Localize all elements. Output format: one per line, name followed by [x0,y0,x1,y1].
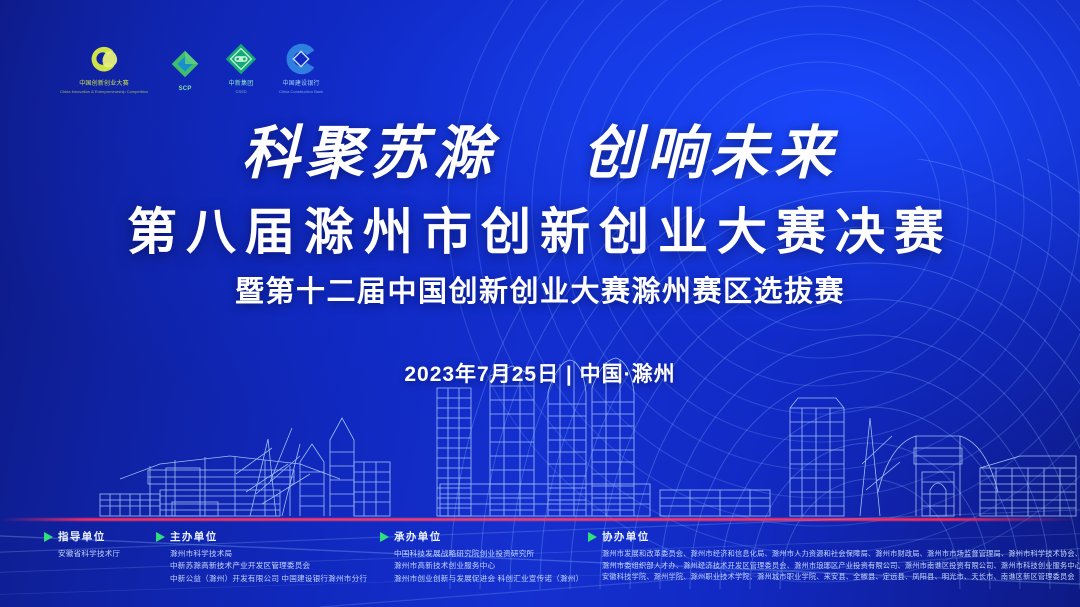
org-lines: 滁州市科学技术局 中新苏滁高新技术产业开发区管理委员会 中新公益（滁州）开发有限… [156,548,367,585]
org-heading: 协办单位 [588,529,1080,544]
page-subtitle: 暨第十二届中国创新创业大赛滁州赛区选拔赛 [0,268,1080,310]
org-line: 安徽省科学技术厅 [58,548,120,560]
org-lines: 滁州市发展和改革委员会、滁州市经济和信息化局、滁州市人力资源和社会保障局、滁州市… [588,548,1080,583]
org-line: 滁州市创业创新与发展促进会 科创汇业宣传诺（滁州） [394,573,583,585]
org-block-host: 主办单位 滁州市科学技术局 中新苏滁高新技术产业开发区管理委员会 中新公益（滁州… [156,529,367,585]
org-line: 滁州市发展和改革委员会、滁州市经济和信息化局、滁州市人力资源和社会保障局、滁州市… [602,548,1080,560]
org-line: 中国科技发展战略研究院创业投资研究所 [394,548,583,560]
slogan-right: 创响未来 [583,121,839,186]
org-heading-label: 协办单位 [602,529,650,544]
org-heading: 主办单位 [156,529,367,544]
footer-organizations: 指导单位 安徽省科学技术厅 主办单位 滁州市科学技术局 中新苏滁高新技术产业开发… [0,521,1080,607]
calligraphy-slogan: 科聚苏滁 创响未来 [0,106,1080,190]
logo-zhongxin-group: 中新集团 CSSD [222,40,260,94]
org-heading-label: 承办单位 [394,529,442,544]
logo-caption: 中国创新创业大赛 China Innovation & Entrepreneur… [60,81,148,94]
org-line: 滁州市高新技术创业服务中心 [394,560,583,572]
org-line: 中新苏滁高新技术产业开发区管理委员会 [170,560,367,572]
org-block-co-organizer: 协办单位 滁州市发展和改革委员会、滁州市经济和信息化局、滁州市人力资源和社会保障… [588,529,1080,583]
org-line: 安徽科技学院、滁州学院、滁州职业技术学院、滁州城市职业学院、来安县、全椒县、定远… [602,571,1080,583]
triangle-bullet-icon [44,532,53,542]
china-construction-bank-logo-icon [278,40,324,78]
date-location-line: 2023年7月25日 | 中国·滁州 [0,358,1080,388]
logo-china-construction-bank: 中国建设银行 China Construction Bank [278,40,324,94]
triangle-bullet-icon [156,532,165,542]
org-heading-label: 主办单位 [170,529,218,544]
triangle-bullet-icon [588,532,597,542]
sponsor-logo-row: 中国创新创业大赛 China Innovation & Entrepreneur… [60,40,324,94]
china-innovation-competition-logo-icon [85,40,123,78]
zhongxin-group-logo-icon [222,40,260,78]
org-block-guidance: 指导单位 安徽省科学技术厅 [44,529,120,560]
scp-logo-icon [166,45,204,83]
org-heading: 指导单位 [44,529,120,544]
org-lines: 中国科技发展战略研究院创业投资研究所 滁州市高新技术创业服务中心 滁州市创业创新… [380,548,583,585]
logo-caption: 中国建设银行 China Construction Bank [279,81,323,94]
org-lines: 安徽省科学技术厅 [44,548,120,560]
org-line: 滁州市科学技术局 [170,548,367,560]
slogan-left: 科聚苏滁 [241,121,497,186]
org-block-organizer: 承办单位 中国科技发展战略研究院创业投资研究所 滁州市高新技术创业服务中心 滁州… [380,529,583,585]
org-line: 中新公益（滁州）开发有限公司 中国建设银行滁州市分行 [170,573,367,585]
triangle-bullet-icon [380,532,389,542]
logo-scp: SCP [166,45,204,94]
logo-china-innovation-competition: 中国创新创业大赛 China Innovation & Entrepreneur… [60,40,148,94]
org-heading-label: 指导单位 [58,529,106,544]
page-title: 第八届滁州市创新创业大赛决赛 [0,192,1080,264]
org-line: 滁州市委组织部人才办、滁州经济技术开发区管理委员会、滁州市琅琊区产业投资有限公司… [602,560,1080,572]
org-heading: 承办单位 [380,529,583,544]
logo-caption: 中新集团 CSSD [229,81,254,94]
poster-canvas: 中国创新创业大赛 China Innovation & Entrepreneur… [0,0,1080,607]
logo-caption: SCP [179,86,192,94]
